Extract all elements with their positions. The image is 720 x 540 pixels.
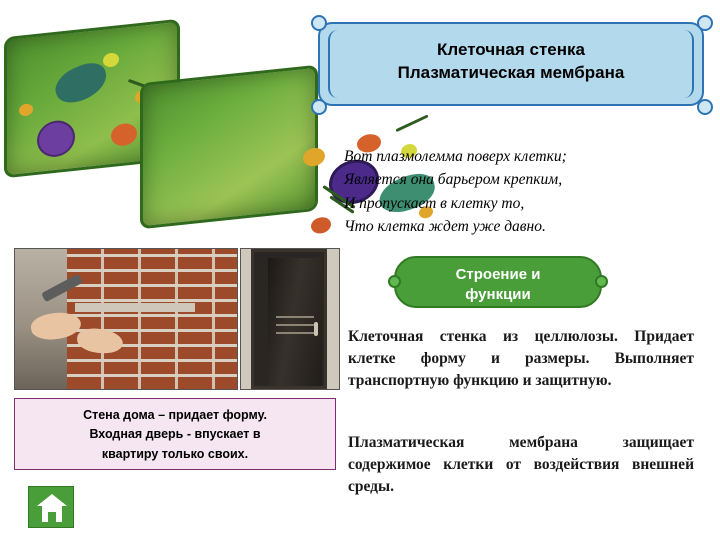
mortar-layer [75,303,195,312]
door-stripe-1 [276,316,314,318]
title-callout: Клеточная стенка Плазматическая мембрана [318,22,704,106]
slide-canvas: Клеточная стенка Плазматическая мембрана… [0,0,720,540]
vesicle-organelle-front [303,147,325,167]
mitochondrion-organelle [111,122,137,147]
paragraph-plasma-membrane: Плазматическая мембрана защищает содержи… [348,432,694,498]
door-stripe-2 [276,324,314,326]
chloroplast-organelle [51,57,111,109]
entrance-door-photo [240,248,340,390]
er-strand-front-3 [396,114,429,132]
scroll-knob-bottom-right-icon [697,99,713,115]
door-stripe-3 [276,332,314,334]
page-title: Клеточная стенка Плазматическая мембрана [320,24,702,85]
ribosome-organelle [103,52,119,68]
paragraph-cell-wall: Клеточная стенка из целлюлозы. Придает к… [348,326,694,392]
scroll-knob-top-left-icon [311,15,327,31]
poem-text: Вот плазмолемма поверх клетки; Является … [344,145,694,238]
home-door-shape [48,512,56,522]
callout-knob-left-icon [388,275,401,288]
callout-knob-right-icon [595,275,608,288]
lysosome-organelle-front [311,216,331,234]
scroll-knob-bottom-left-icon [311,99,327,115]
door-panel [268,258,322,386]
plant-cell-diagram [0,18,318,228]
home-roof-shape [37,494,67,506]
section-label-callout: Строение и функции [394,256,602,308]
door-frame [251,249,327,389]
nucleus-organelle [37,119,75,159]
brick-wall-texture [67,249,237,389]
cell-front-shape [140,65,318,230]
vesicle-organelle [19,103,33,116]
scroll-knob-top-right-icon [697,15,713,31]
photo-caption-box: Стена дома – придает форму. Входная двер… [14,398,336,470]
home-button[interactable] [28,486,74,528]
bricklayer-photo [14,248,238,390]
home-icon [37,494,67,522]
door-handle [314,322,318,336]
